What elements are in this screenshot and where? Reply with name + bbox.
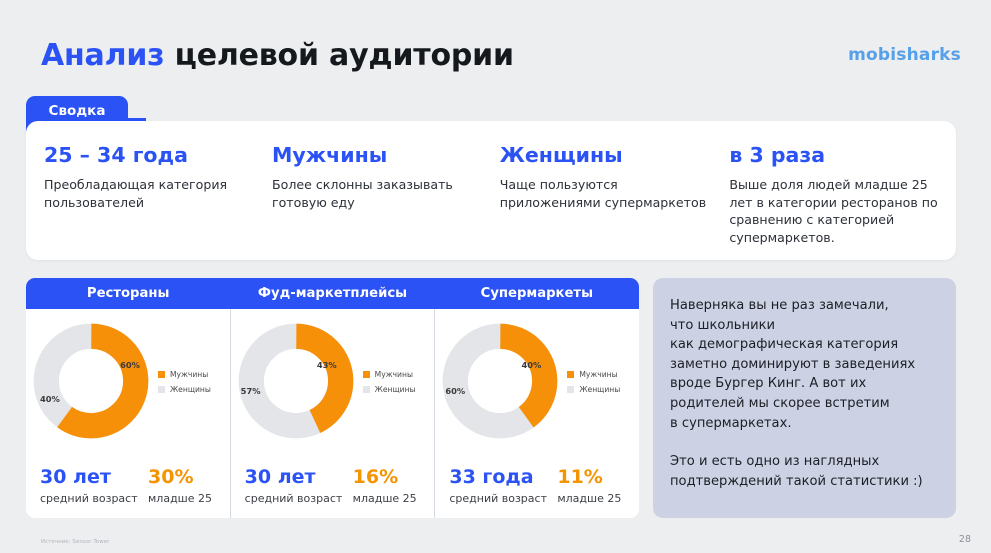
- stats-row: 30 лет средний возраст 30% младше 25: [26, 452, 230, 505]
- stat-value: 16%: [353, 466, 417, 488]
- summary-body: Чаще пользуются приложениями супермаркет…: [500, 176, 715, 211]
- slide-header: Анализ целевой аудитории mobisharks: [41, 36, 961, 80]
- legend-item-women: Женщины: [363, 385, 416, 394]
- stat-value: 11%: [557, 466, 621, 488]
- legend-swatch-icon: [363, 371, 370, 378]
- donut-area: 43% 57% Мужчины Женщины: [231, 309, 435, 452]
- legend-item-men: Мужчины: [363, 370, 416, 379]
- page-title-accent: Анализ: [41, 38, 164, 73]
- legend-swatch-icon: [567, 386, 574, 393]
- donut-label-women: 40%: [40, 394, 60, 404]
- chart-legend: Мужчины Женщины: [363, 368, 416, 394]
- stat-caption: средний возраст: [245, 492, 353, 505]
- summary-heading: Мужчины: [272, 143, 483, 167]
- stat-caption: средний возраст: [40, 492, 148, 505]
- summary-item-2: Женщины Чаще пользуются приложениями суп…: [497, 143, 729, 260]
- stat-under-25: 16% младше 25: [353, 466, 417, 505]
- chart-cell-restaurants: 60% 40% Мужчины Женщины: [26, 309, 230, 518]
- stats-row: 30 лет средний возраст 16% младше 25: [231, 452, 435, 505]
- charts-panel: Рестораны Фуд-маркетплейсы Супермаркеты …: [26, 278, 639, 518]
- page-title-rest: целевой аудитории: [164, 38, 513, 73]
- chart-legend: Мужчины Женщины: [567, 368, 620, 394]
- page-title: Анализ целевой аудитории: [41, 36, 961, 76]
- summary-body: Преобладающая категория пользователей: [44, 176, 253, 211]
- stat-caption: младше 25: [148, 492, 212, 505]
- stat-under-25: 11% младше 25: [557, 466, 621, 505]
- legend-label: Женщины: [375, 385, 416, 394]
- legend-swatch-icon: [158, 371, 165, 378]
- chart-cell-supermarkets: 40% 60% Мужчины Женщины: [434, 309, 639, 518]
- summary-item-3: в 3 раза Выше доля людей младше 25 лет в…: [728, 143, 956, 260]
- summary-item-1: Мужчины Более склонны заказывать готовую…: [267, 143, 497, 260]
- donut-chart-supermarkets: 40% 60%: [441, 322, 559, 440]
- donut-label-men: 43%: [317, 360, 337, 370]
- summary-body: Выше доля людей младше 25 лет в категори…: [729, 176, 942, 246]
- slide-root: Анализ целевой аудитории mobisharks Свод…: [0, 0, 991, 553]
- legend-swatch-icon: [363, 386, 370, 393]
- legend-swatch-icon: [567, 371, 574, 378]
- summary-body: Более склонны заказывать готовую еду: [272, 176, 483, 211]
- charts-body: 60% 40% Мужчины Женщины: [26, 309, 639, 518]
- stat-average-age: 33 года средний возраст: [449, 466, 557, 505]
- stat-average-age: 30 лет средний возраст: [40, 466, 148, 505]
- stats-row: 33 года средний возраст 11% младше 25: [435, 452, 639, 505]
- donut-label-men: 40%: [521, 360, 541, 370]
- chart-legend: Мужчины Женщины: [158, 368, 211, 394]
- legend-label: Мужчины: [375, 370, 413, 379]
- summary-tab-label: Сводка: [49, 103, 106, 119]
- donut-area: 40% 60% Мужчины Женщины: [435, 309, 639, 452]
- legend-label: Мужчины: [579, 370, 617, 379]
- source-note: Источник: Sensor Tower: [41, 539, 109, 545]
- stat-value: 30 лет: [245, 466, 353, 488]
- page-number: 28: [959, 534, 971, 545]
- legend-item-women: Женщины: [158, 385, 211, 394]
- donut-svg: [441, 322, 559, 440]
- summary-heading: 25 – 34 года: [44, 143, 253, 167]
- donut-svg: [32, 322, 150, 440]
- donut-chart-restaurants: 60% 40%: [32, 322, 150, 440]
- stat-under-25: 30% младше 25: [148, 466, 212, 505]
- donut-area: 60% 40% Мужчины Женщины: [26, 309, 230, 452]
- stat-value: 30%: [148, 466, 212, 488]
- summary-heading: Женщины: [500, 143, 715, 167]
- chart-title-restaurants: Рестораны: [26, 278, 230, 309]
- legend-item-women: Женщины: [567, 385, 620, 394]
- stat-caption: средний возраст: [449, 492, 557, 505]
- legend-label: Мужчины: [170, 370, 208, 379]
- legend-swatch-icon: [158, 386, 165, 393]
- legend-label: Женщины: [579, 385, 620, 394]
- donut-label-women: 57%: [241, 386, 261, 396]
- brand-logo: mobisharks: [848, 45, 961, 65]
- donut-svg: [237, 322, 355, 440]
- charts-header-bar: Рестораны Фуд-маркетплейсы Супермаркеты: [26, 278, 639, 309]
- chart-cell-foodmarketplaces: 43% 57% Мужчины Женщины: [230, 309, 435, 518]
- stat-value: 33 года: [449, 466, 557, 488]
- donut-chart-foodmarketplaces: 43% 57%: [237, 322, 355, 440]
- legend-item-men: Мужчины: [567, 370, 620, 379]
- summary-card: 25 – 34 года Преобладающая категория пол…: [26, 121, 956, 260]
- donut-label-men: 60%: [120, 360, 140, 370]
- donut-label-women: 60%: [445, 386, 465, 396]
- commentary-paragraph-1: Наверняка вы не раз замечали, что школьн…: [670, 296, 938, 433]
- stat-value: 30 лет: [40, 466, 148, 488]
- summary-heading: в 3 раза: [729, 143, 942, 167]
- commentary-paragraph-2: Это и есть одно из наглядных подтвержден…: [670, 452, 938, 491]
- chart-title-foodmarketplaces: Фуд-маркетплейсы: [230, 278, 434, 309]
- stat-average-age: 30 лет средний возраст: [245, 466, 353, 505]
- commentary-panel: Наверняка вы не раз замечали, что школьн…: [653, 278, 956, 518]
- stat-caption: младше 25: [353, 492, 417, 505]
- legend-item-men: Мужчины: [158, 370, 211, 379]
- stat-caption: младше 25: [557, 492, 621, 505]
- chart-title-supermarkets: Супермаркеты: [435, 278, 639, 309]
- legend-label: Женщины: [170, 385, 211, 394]
- summary-item-0: 25 – 34 года Преобладающая категория пол…: [26, 143, 267, 260]
